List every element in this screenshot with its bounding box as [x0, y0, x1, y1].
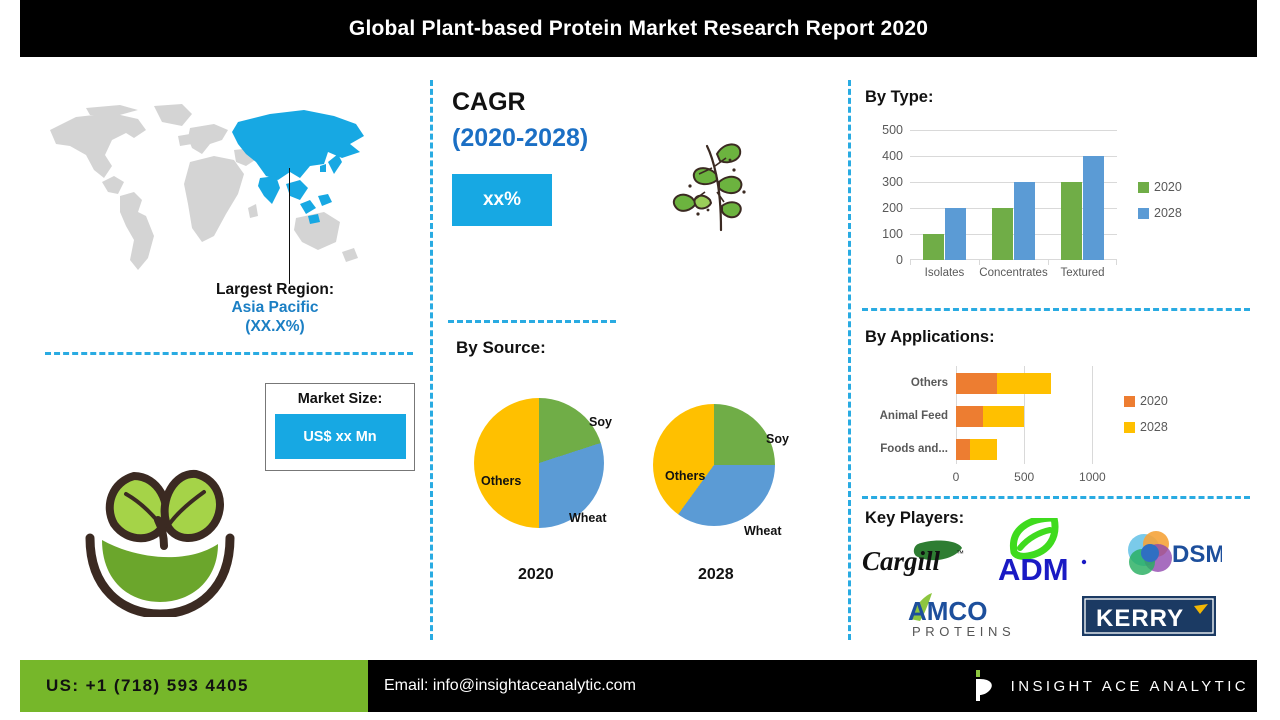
by-type-ytick-300: 300: [882, 175, 903, 189]
divider-bytype-byapps: [862, 308, 1250, 311]
by-type-group-textured: [1048, 130, 1117, 260]
world-map: [42, 100, 372, 280]
pie-2028-label-soy: Soy: [766, 432, 789, 446]
svg-text:AMCO: AMCO: [908, 596, 987, 626]
divider-middle-right: [848, 80, 851, 640]
by-type-ytick-0: 0: [896, 253, 903, 267]
by-type-bar-2020-isolates: [923, 234, 944, 260]
pie-2028-label-wheat: Wheat: [744, 524, 782, 538]
by-applications-seg-2028-others: [997, 373, 1052, 394]
pie-2020-label-wheat: Wheat: [569, 511, 607, 525]
cagr-label: CAGR: [452, 88, 526, 117]
by-applications-xtick-500: 500: [1014, 470, 1034, 484]
world-map-icon: [42, 100, 372, 280]
page-title: Global Plant-based Protein Market Resear…: [349, 17, 928, 41]
by-applications-legend-label-2020: 2020: [1140, 394, 1168, 408]
pie-chart-2020: [474, 398, 604, 528]
by-type-bar-2028-textured: [1083, 156, 1104, 260]
by-type-legend-2020: 2020: [1138, 180, 1182, 194]
svg-text:DSM: DSM: [1172, 541, 1222, 568]
key-players-title: Key Players:: [865, 509, 964, 528]
by-applications-title: By Applications:: [865, 328, 995, 347]
cagr-value: xx%: [452, 174, 552, 226]
by-type-legend-label-2028: 2028: [1154, 206, 1182, 220]
by-applications-legend-label-2028: 2028: [1140, 420, 1168, 434]
svg-text:Cargill: Cargill: [862, 546, 941, 576]
svg-text:ADM: ADM: [998, 552, 1069, 584]
by-type-cat-concentrates: Concentrates: [979, 267, 1048, 279]
header-bar: Global Plant-based Protein Market Resear…: [20, 0, 1257, 57]
footer-phone: US: +1 (718) 593 4405: [20, 660, 368, 712]
footer-email[interactable]: Email: info@insightaceanalytic.com: [368, 677, 636, 695]
kerry-logo: KERRY: [1082, 596, 1216, 636]
by-applications-chart: Others Animal Feed Foods and... 0 500 10…: [866, 362, 1201, 492]
legend-swatch-orange: [1124, 396, 1135, 407]
adm-logo: ADM: [992, 518, 1094, 584]
by-type-plot-area: 500 400 300 200 100 0: [910, 130, 1117, 260]
pie-2028-year: 2028: [698, 566, 734, 584]
largest-region-name: Asia Pacific: [150, 299, 400, 317]
plant-branch-icon: [672, 140, 758, 232]
largest-region-block: Largest Region: Asia Pacific (XX.X%): [150, 281, 400, 336]
by-applications-row-label-others: Others: [911, 377, 948, 389]
by-applications-legend-2028: 2028: [1124, 420, 1168, 434]
by-applications-row-label-animal-feed: Animal Feed: [880, 410, 948, 422]
insight-ace-mark-icon: [973, 669, 999, 703]
by-applications-legend-2020: 2020: [1124, 394, 1168, 408]
by-type-bar-groups: [910, 130, 1117, 260]
footer-bar: US: +1 (718) 593 4405 Email: info@insigh…: [20, 660, 1257, 712]
by-type-cat-isolates: Isolates: [910, 267, 979, 279]
market-size-label: Market Size:: [298, 391, 383, 407]
by-applications-bar-foods: [956, 439, 997, 460]
pie-2028-label-others: Others: [665, 469, 705, 483]
legend-swatch-blue: [1138, 208, 1149, 219]
by-type-ytick-400: 400: [882, 149, 903, 163]
by-applications-plot-area: Others Animal Feed Foods and... 0 500 10…: [956, 366, 1106, 464]
legend-swatch-green: [1138, 182, 1149, 193]
by-applications-bar-others: [956, 373, 1052, 394]
by-applications-xtick-1000: 1000: [1079, 470, 1106, 484]
pie-chart-2028: [653, 404, 775, 526]
by-type-group-concentrates: [979, 130, 1048, 260]
pie-2020-label-soy: Soy: [589, 415, 612, 429]
footer-brand-name: INSIGHT ACE ANALYTIC: [1011, 678, 1249, 695]
map-pointer-line: [289, 168, 290, 284]
by-type-bar-2028-concentrates: [1014, 182, 1035, 260]
by-applications-seg-2020-foods: [956, 439, 970, 460]
pie-2020-year: 2020: [518, 566, 554, 584]
by-type-chart: 500 400 300 200 100 0: [866, 125, 1196, 290]
by-applications-seg-2028-animal-feed: [983, 406, 1024, 427]
by-applications-seg-2020-others: [956, 373, 997, 394]
by-type-category-labels: Isolates Concentrates Textured: [910, 267, 1117, 279]
footer-right: Email: info@insightaceanalytic.com INSIG…: [368, 660, 1257, 712]
by-type-ytick-500: 500: [882, 123, 903, 137]
dsm-logo: DSM: [1118, 528, 1222, 582]
amco-proteins-logo: AMCO PROTEINS: [906, 593, 1024, 639]
by-type-legend: 2020 2028: [1138, 180, 1182, 232]
pie-2020-label-others: Others: [481, 474, 521, 488]
by-type-bar-2028-isolates: [945, 208, 966, 260]
divider-byapps-keyplayers: [862, 496, 1250, 499]
cagr-years: (2020-2028): [452, 124, 588, 153]
cargill-logo: Cargill ™: [862, 538, 966, 578]
by-type-ytick-100: 100: [882, 227, 903, 241]
by-type-group-isolates: [910, 130, 979, 260]
divider-left-middle: [430, 80, 433, 640]
by-type-bar-2020-textured: [1061, 182, 1082, 260]
largest-region-share: (XX.X%): [150, 318, 400, 336]
by-applications-legend: 2020 2028: [1124, 394, 1168, 446]
by-applications-seg-2028-foods: [970, 439, 997, 460]
svg-text:PROTEINS: PROTEINS: [912, 624, 1015, 639]
by-applications-xtick-0: 0: [953, 470, 960, 484]
by-type-cat-textured: Textured: [1048, 267, 1117, 279]
svg-text:KERRY: KERRY: [1096, 605, 1184, 632]
by-applications-row-label-foods: Foods and...: [880, 443, 948, 455]
divider-region-marketsize: [45, 352, 413, 355]
legend-swatch-yellow: [1124, 422, 1135, 433]
by-type-legend-label-2020: 2020: [1154, 180, 1182, 194]
by-type-ytick-200: 200: [882, 201, 903, 215]
market-size-value: US$ xx Mn: [275, 414, 406, 459]
by-type-bar-2020-concentrates: [992, 208, 1013, 260]
by-applications-bar-animal-feed: [956, 406, 1024, 427]
footer-brand: INSIGHT ACE ANALYTIC: [973, 669, 1249, 703]
infographic-canvas: Global Plant-based Protein Market Resear…: [0, 0, 1280, 720]
divider-cagr-source: [448, 320, 616, 323]
plant-sprout-icon: [68, 452, 253, 617]
by-source-title: By Source:: [456, 338, 546, 358]
by-applications-seg-2020-animal-feed: [956, 406, 983, 427]
by-type-title: By Type:: [865, 88, 933, 107]
market-size-box: Market Size: US$ xx Mn: [265, 383, 415, 471]
largest-region-label: Largest Region:: [150, 281, 400, 299]
by-type-legend-2028: 2028: [1138, 206, 1182, 220]
svg-text:™: ™: [956, 549, 964, 558]
